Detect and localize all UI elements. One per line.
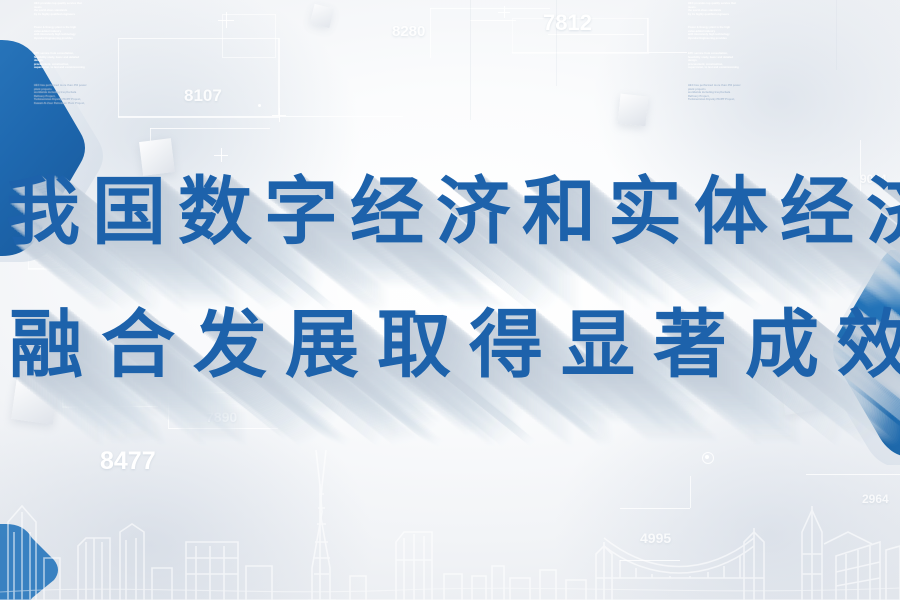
- background-number: 8280: [392, 23, 425, 40]
- title-character: 得: [469, 285, 543, 392]
- floating-card-4: [779, 367, 825, 415]
- title-character: 显: [561, 285, 635, 392]
- title-character: 实: [608, 152, 682, 259]
- crosshair-mark-4: [26, 218, 40, 232]
- title-character: 发: [193, 285, 267, 392]
- floating-card-1: [139, 138, 175, 176]
- title-character: 数: [178, 152, 252, 259]
- grid-line-h1: [118, 116, 403, 117]
- crosshair-mark-6: [498, 6, 510, 18]
- title-character: 融: [9, 285, 83, 392]
- chevron-accent-bottom-left: [0, 518, 60, 600]
- right-text-block-4: HEC has performed more than 450 powerpla…: [688, 84, 784, 106]
- background-glow-center: [220, 120, 740, 450]
- title-character: 展: [285, 285, 359, 392]
- column-streak-2: [556, 0, 557, 86]
- title-character: 济: [866, 152, 900, 259]
- background-number: 8477: [100, 447, 156, 476]
- background-wash-bottom-right: [470, 310, 900, 600]
- crosshair-mark-1: [218, 12, 234, 28]
- right-text-block-3: EPC service from consultation,feasibilit…: [688, 52, 784, 74]
- title-character: 效: [837, 285, 900, 392]
- title-character: 著: [653, 285, 727, 392]
- title-line-1: 我国数字经济和实体经济: [0, 152, 900, 259]
- grid-line-v7: [690, 476, 691, 508]
- grid-frame-left-square: [62, 384, 86, 408]
- grid-line-h7: [62, 406, 158, 407]
- background-number: 8107: [184, 86, 222, 106]
- grid-line-v5: [168, 392, 169, 428]
- city-skyline-illustration: [0, 450, 900, 600]
- grid-line-h12: [620, 508, 690, 509]
- background-number: 7812: [543, 10, 592, 36]
- title-character: 合: [101, 285, 175, 392]
- background-wash-top-left: [0, 0, 440, 350]
- grid-frame-top-right: [512, 18, 649, 54]
- left-text-block-4: HEC has performed more than 450 powerpla…: [34, 84, 130, 110]
- floating-card-2: [618, 94, 649, 127]
- crosshair-mark-5: [58, 380, 72, 394]
- background-wash-top-right: [520, 0, 900, 310]
- accent-dot-1: [258, 104, 261, 107]
- column-streak-3: [836, 0, 837, 70]
- background-number: 7890: [206, 409, 237, 425]
- grid-line-v4: [430, 8, 431, 58]
- grid-line-v1: [278, 38, 279, 116]
- background-number: 4995: [640, 530, 671, 546]
- title-character: 济: [436, 152, 510, 259]
- crosshair-mark-3: [214, 148, 228, 162]
- grid-line-h9: [168, 428, 278, 429]
- grid-line-h13: [620, 560, 680, 561]
- grid-line-h6: [28, 268, 148, 269]
- grid-frame-left-lower: [28, 222, 84, 270]
- grid-line-h14: [470, 20, 516, 21]
- background-number: 9084: [860, 172, 887, 186]
- chevron-shape-right: [812, 250, 900, 465]
- left-text-block: HEC provides top quality service thatmee…: [34, 2, 130, 21]
- left-text-block-3: EPC service from consultation,feasibilit…: [34, 52, 130, 74]
- left-text-block-2: Power & Energy plant is the highvalue-ad…: [34, 26, 130, 45]
- background-wash-bottom-left: [0, 310, 460, 600]
- accent-ring-1: [128, 252, 139, 263]
- title-line-2: 融合发展取得显著成效: [0, 285, 900, 392]
- title-character: 字: [264, 152, 338, 259]
- accent-ring-3: [702, 452, 714, 464]
- grid-line-h5: [548, 34, 644, 35]
- title-character: 成: [745, 285, 819, 392]
- grid-line-h10: [740, 208, 860, 209]
- poster-canvas: HEC provides top quality service thatmee…: [0, 0, 900, 600]
- accent-dot-2: [128, 255, 131, 258]
- grid-line-h8: [168, 392, 250, 393]
- right-text-block-2: Power & Energy plant is the highvalue-ad…: [688, 26, 784, 45]
- grid-line-v3: [647, 18, 648, 52]
- poster-title: 我国数字经济和实体经济 融合发展取得显著成效: [0, 0, 900, 600]
- grid-line-v2: [150, 128, 151, 154]
- grid-line-v6: [860, 140, 861, 208]
- grid-line-h3: [512, 52, 687, 53]
- grid-frame-top-mid: [222, 14, 276, 58]
- title-character: 我: [6, 152, 80, 259]
- accent-ring-2: [73, 262, 82, 271]
- background-number: 9084: [688, 231, 717, 246]
- title-character: 经: [780, 152, 854, 259]
- title-character: 经: [350, 152, 424, 259]
- crosshair-mark-2: [272, 108, 286, 122]
- floating-card-5: [310, 4, 334, 28]
- background-number: 2964: [862, 492, 889, 506]
- title-character: 国: [92, 152, 166, 259]
- column-streak-1: [470, 0, 471, 120]
- grid-frame-top-left: [118, 38, 280, 118]
- floating-card-3: [11, 375, 59, 424]
- title-character: 体: [694, 152, 768, 259]
- grid-line-h4: [430, 8, 550, 9]
- title-character: 取: [377, 285, 451, 392]
- chevron-shape-left: [0, 40, 112, 270]
- accent-dot-3: [705, 455, 709, 459]
- grid-line-h2: [150, 128, 270, 129]
- background-number: 4648: [16, 323, 45, 338]
- right-text-block: HEC provides top quality service thatmee…: [688, 2, 784, 21]
- grid-line-h11: [806, 474, 900, 475]
- title-character: 和: [522, 152, 596, 259]
